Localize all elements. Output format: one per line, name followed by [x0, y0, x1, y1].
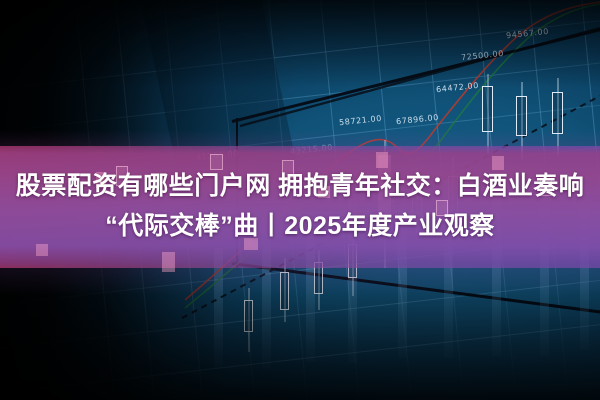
headline: 股票配资有哪些门户网 拥抱青年社交：白酒业奏响 “代际交棒”曲丨2025年度产业… [0, 166, 600, 246]
headline-line-2: “代际交棒”曲丨2025年度产业观察 [0, 206, 600, 246]
decor-square [162, 252, 175, 272]
headline-line-1: 股票配资有哪些门户网 拥抱青年社交：白酒业奏响 [0, 166, 600, 206]
banner-image: 94567.00 72500.00 64472.00 67896.00 5872… [0, 0, 600, 400]
